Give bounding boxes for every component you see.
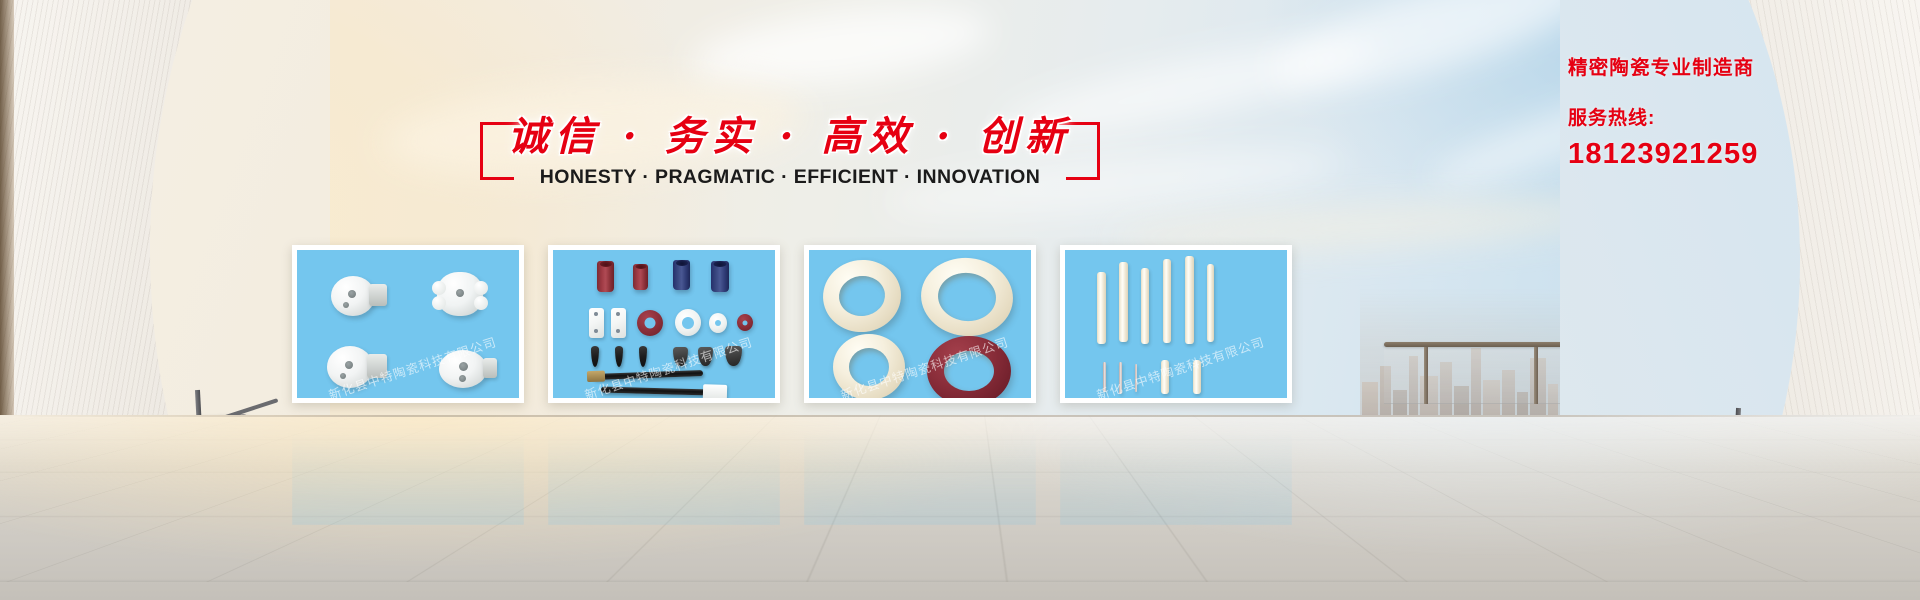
product-panel-row: 新化县中特陶瓷科技有限公司 (292, 245, 1292, 403)
company-tagline: 精密陶瓷专业制造商 (1568, 56, 1888, 81)
ceramic-socket-stem (367, 354, 387, 378)
panel-watermark: 新化县中特陶瓷科技有限公司 (553, 320, 775, 398)
cable-assembly (601, 387, 709, 396)
canopy-dark-edge (0, 0, 14, 430)
product-panel[interactable]: 新化县中特陶瓷科技有限公司 (804, 245, 1036, 403)
ceramic-rod (1207, 264, 1214, 342)
ceramic-plate (589, 308, 604, 338)
hotline-number[interactable]: 18123921259 (1568, 138, 1888, 171)
ceramic-ring-white (675, 309, 701, 336)
reflective-tile-floor (0, 415, 1920, 600)
ceramic-tube-red (597, 261, 614, 292)
hotline-label: 服务热线: (1568, 103, 1888, 130)
product-panel[interactable]: 新化县中特陶瓷科技有限公司 (292, 245, 524, 403)
ceramic-rod-short (1161, 360, 1169, 394)
ceramic-rod (1185, 256, 1194, 344)
promotional-banner: 诚信 · 务实 · 高效 · 创新 HONESTY · PRAGMATIC · … (0, 0, 1920, 600)
ceramic-rod-short (1193, 360, 1201, 394)
ceramic-rod (1163, 259, 1171, 343)
contact-block: 精密陶瓷专业制造商 服务热线: 18123921259 (1568, 56, 1888, 171)
ceramic-tip-leaf (591, 346, 599, 367)
ceramic-flower-body (437, 272, 483, 316)
slogan-chinese: 诚信 · 务实 · 高效 · 创新 (480, 104, 1100, 162)
ceramic-socket-stem (483, 358, 497, 378)
ceramic-plate (611, 308, 626, 338)
slogan-english: HONESTY · PRAGMATIC · EFFICIENT · INNOVA… (480, 166, 1100, 189)
cable-assembly (593, 370, 703, 380)
floor-horizon-line (0, 415, 1920, 417)
ceramic-tip-shield (673, 347, 688, 366)
panel-image-ceramic-rods: 新化县中特陶瓷科技有限公司 (1065, 250, 1287, 398)
panel-image-ceramic-tubes: 新化县中特陶瓷科技有限公司 (553, 250, 775, 398)
ceramic-tube-blue (711, 261, 729, 292)
panel-image-ceramic-sockets: 新化县中特陶瓷科技有限公司 (297, 250, 519, 398)
ceramic-ring-maroon (637, 310, 663, 336)
ceramic-tip-shield (725, 346, 742, 366)
ceramic-pin (1119, 362, 1122, 394)
product-panel[interactable]: 新化县中特陶瓷科技有限公司 (548, 245, 780, 403)
ceramic-rod (1141, 268, 1149, 344)
panel-image-ceramic-rings: 新化县中特陶瓷科技有限公司 (809, 250, 1031, 398)
ceramic-tip-leaf (615, 346, 623, 367)
ceramic-ring-maroon (927, 336, 1011, 398)
ceramic-pin (1135, 364, 1137, 392)
slogan-block: 诚信 · 务实 · 高效 · 创新 HONESTY · PRAGMATIC · … (480, 104, 1100, 204)
ceramic-rod (1119, 262, 1128, 342)
ceramic-tube-blue (673, 260, 690, 290)
ceramic-tip-leaf (639, 346, 647, 367)
ceramic-tip-shield (698, 347, 713, 366)
ceramic-bushing-maroon (737, 314, 753, 331)
ceramic-tube-red (633, 264, 648, 290)
ceramic-ring-ivory (917, 253, 1017, 340)
ceramic-ring-ivory (833, 334, 905, 398)
ceramic-ring-ivory (819, 256, 905, 337)
ceramic-pin (1103, 362, 1106, 392)
ceramic-rod (1097, 272, 1106, 344)
product-panel[interactable]: 新化县中特陶瓷科技有限公司 (1060, 245, 1292, 403)
ceramic-socket-stem (369, 284, 387, 306)
ceramic-bushing-white (709, 313, 727, 333)
floor-sheen (0, 415, 1920, 600)
ceramic-socket-oval (439, 350, 487, 388)
